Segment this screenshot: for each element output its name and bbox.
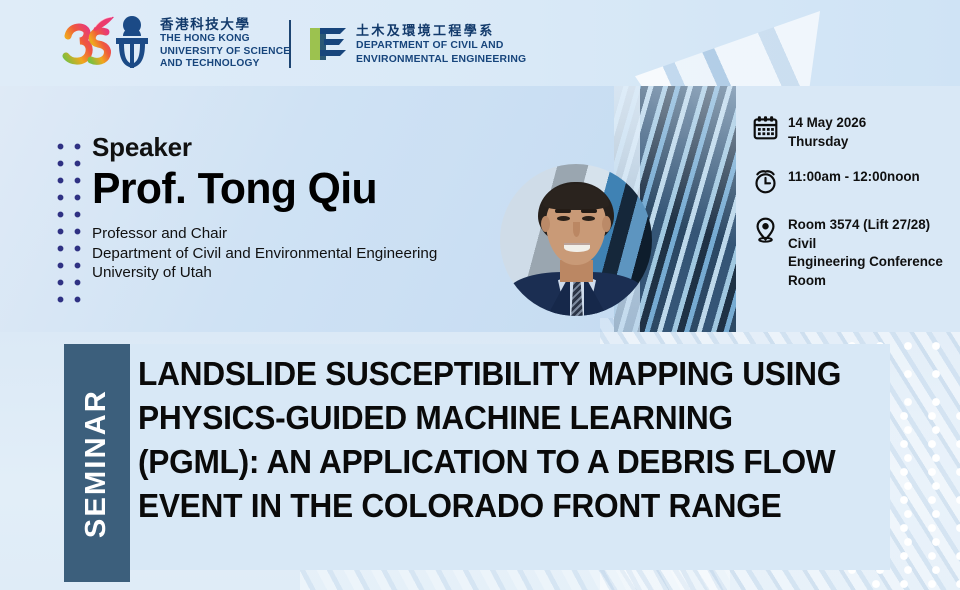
seminar-badge: SEMINAR xyxy=(64,344,130,582)
seminar-title-line: EVENT IN THE COLORADO FRONT RANGE xyxy=(138,484,839,528)
hkust-35-anniversary-logo xyxy=(62,14,116,70)
event-venue-text: Room 3574 (Lift 27/28) Civil Engineering… xyxy=(788,216,960,290)
portrait-eyebrow-left xyxy=(555,209,571,213)
event-venue-row: Room 3574 (Lift 27/28) Civil Engineering… xyxy=(750,216,960,290)
event-time-text: 11:00am - 12:00noon xyxy=(788,168,920,187)
seminar-title: LANDSLIDE SUSCEPTIBILITY MAPPING USING P… xyxy=(138,352,839,528)
speaker-affiliation-line: Department of Civil and Environmental En… xyxy=(92,244,512,264)
hkust-name-cn: 香港科技大學 xyxy=(160,17,290,32)
speaker-affiliation: Professor and Chair Department of Civil … xyxy=(92,224,512,283)
hkust-name-en-2: UNIVERSITY OF SCIENCE xyxy=(160,46,290,58)
event-time-row: 11:00am - 12:00noon xyxy=(750,168,920,198)
event-venue-line-1: Room 3574 (Lift 27/28) Civil xyxy=(788,217,930,251)
portrait-eye-left xyxy=(557,216,570,221)
location-pin-icon xyxy=(750,216,780,246)
speaker-label: Speaker xyxy=(92,132,512,162)
seminar-badge-label: SEMINAR xyxy=(81,388,114,537)
portrait-nose xyxy=(573,222,580,237)
cee-name-en-1: DEPARTMENT OF CIVIL AND xyxy=(356,40,526,52)
speaker-name: Prof. Tong Qiu xyxy=(92,164,499,214)
portrait-eyebrow-right xyxy=(581,209,597,213)
speaker-portrait xyxy=(500,164,652,316)
seminar-poster: 香港科技大學 THE HONG KONG UNIVERSITY OF SCIEN… xyxy=(0,0,960,590)
speaker-block: Speaker Prof. Tong Qiu Professor and Cha… xyxy=(92,132,512,283)
event-date-text: 14 May 2026 Thursday xyxy=(788,114,866,151)
event-venue-line-3: Room xyxy=(788,272,960,291)
event-venue-line-2: Engineering Conference xyxy=(788,253,960,272)
portrait-ear-left xyxy=(541,216,550,232)
dot-pattern-speaker xyxy=(52,138,86,304)
event-time: 11:00am - 12:00noon xyxy=(788,169,920,184)
cee-wordmark: 土木及環境工程學系 DEPARTMENT OF CIVIL AND ENVIRO… xyxy=(356,23,526,66)
hkust-name-en-1: THE HONG KONG xyxy=(160,33,290,45)
logo-divider xyxy=(289,20,291,68)
event-details-panel: 14 May 2026 Thursday 11:00am - 12:00noon xyxy=(736,86,960,332)
event-date: 14 May 2026 xyxy=(788,115,866,130)
cee-name-en-2: ENVIRONMENTAL ENGINEERING xyxy=(356,54,526,66)
calendar-icon xyxy=(750,114,780,144)
portrait-eye-right xyxy=(582,216,595,221)
speaker-affiliation-line: Professor and Chair xyxy=(92,224,512,244)
event-date-row: 14 May 2026 Thursday xyxy=(750,114,866,151)
hkust-emblem xyxy=(110,14,154,72)
speaker-affiliation-line: University of Utah xyxy=(92,263,512,283)
hkust-wordmark: 香港科技大學 THE HONG KONG UNIVERSITY OF SCIEN… xyxy=(160,17,290,70)
hkust-name-en-3: AND TECHNOLOGY xyxy=(160,58,290,70)
seminar-title-line: (PGML): AN APPLICATION TO A DEBRIS FLOW xyxy=(138,440,839,484)
event-weekday: Thursday xyxy=(788,133,866,152)
clock-icon xyxy=(750,168,780,198)
cee-name-cn: 土木及環境工程學系 xyxy=(356,23,526,38)
seminar-title-line: PHYSICS-GUIDED MACHINE LEARNING xyxy=(138,396,839,440)
portrait-mouth xyxy=(564,243,590,252)
cee-logo xyxy=(306,22,350,66)
seminar-title-line: LANDSLIDE SUSCEPTIBILITY MAPPING USING xyxy=(138,352,839,396)
portrait-ear-right xyxy=(602,216,611,232)
